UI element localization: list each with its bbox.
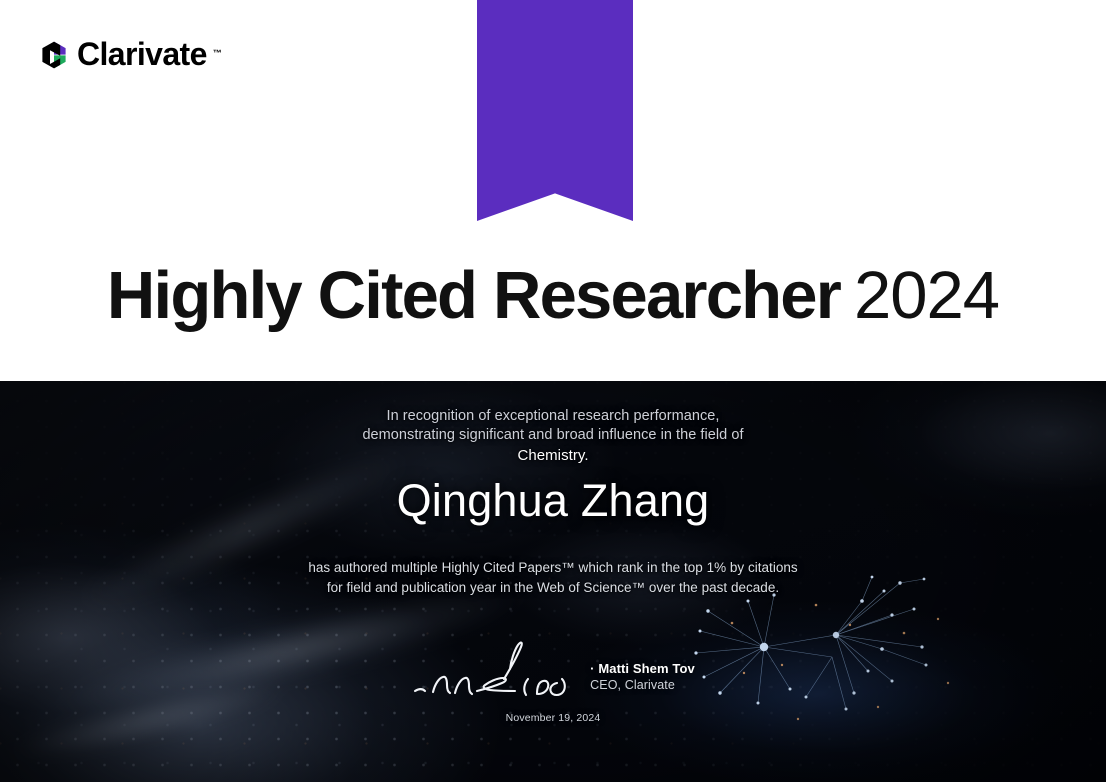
recognition-line-2: demonstrating significant and broad infl… (362, 427, 743, 443)
certificate-body-panel: In recognition of exceptional research p… (0, 381, 1106, 782)
signatory-name: Matti Shem Tov (598, 661, 695, 676)
research-field: Chemistry. (0, 446, 1106, 465)
citation-statement: has authored multiple Highly Cited Paper… (0, 558, 1106, 597)
clarivate-logo: Clarivate ™ (38, 38, 207, 74)
page-title: Highly Cited Researcher2024 (0, 262, 1106, 329)
award-ribbon-icon (477, 0, 633, 221)
signature-bullet: · (590, 661, 594, 676)
certificate-header-panel: Clarivate ™ Highly Cited Researcher2024 (0, 0, 1106, 381)
recipient-name: Qinghua Zhang (0, 475, 1106, 527)
citation-line-1: has authored multiple Highly Cited Paper… (308, 560, 797, 575)
certificate-page: Clarivate ™ Highly Cited Researcher2024 (0, 0, 1106, 782)
signature-block: · Matti Shem Tov CEO, Clarivate (0, 639, 1106, 699)
clarivate-wordmark: Clarivate ™ (77, 38, 207, 71)
signatory-credit: · Matti Shem Tov CEO, Clarivate (590, 661, 695, 699)
recognition-statement: In recognition of exceptional research p… (0, 407, 1106, 465)
signatory-name-row: · Matti Shem Tov (590, 661, 695, 677)
citation-line-2: for field and publication year in the We… (327, 580, 779, 595)
issue-date: November 19, 2024 (0, 712, 1106, 724)
recognition-line-1: In recognition of exceptional research p… (386, 408, 719, 424)
page-title-year: 2024 (854, 258, 999, 333)
certificate-text-content: In recognition of exceptional research p… (0, 381, 1106, 782)
clarivate-hexagon-icon (38, 39, 70, 71)
clarivate-wordmark-text: Clarivate (77, 36, 207, 72)
handwritten-signature-icon (411, 639, 576, 701)
trademark-symbol: ™ (213, 37, 222, 70)
page-title-main: Highly Cited Researcher (107, 258, 840, 333)
signatory-role: CEO, Clarivate (590, 677, 695, 693)
